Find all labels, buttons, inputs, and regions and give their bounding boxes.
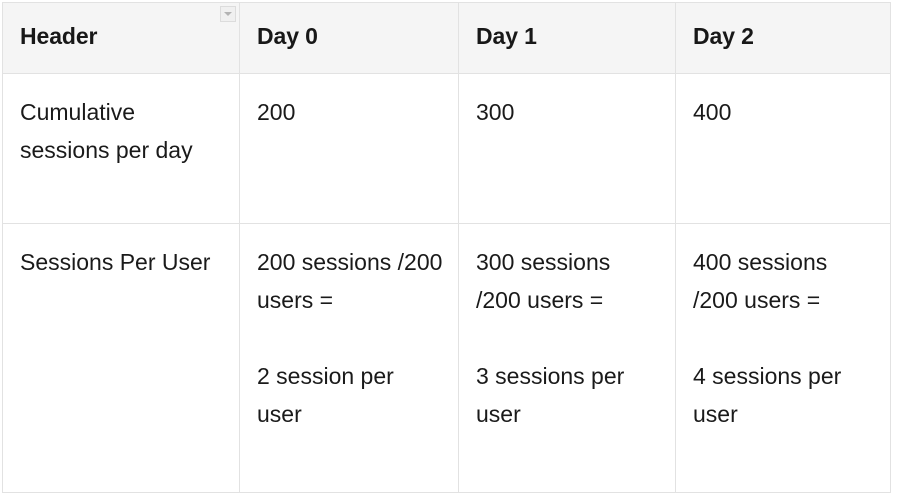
column-header-label-day2: Day 2: [676, 3, 890, 51]
column-header-label-day0: Day 0: [240, 3, 458, 51]
table-row: Cumulative sessions per day 200 300 400: [3, 74, 891, 224]
cell-value-cumulative-day1: 300: [459, 74, 675, 131]
row-label-sessions-per-user: Sessions Per User: [3, 224, 239, 281]
column-header-day2[interactable]: Day 2: [676, 3, 891, 74]
cell-line-result-spu-day1: 3 sessions per user: [476, 357, 661, 433]
table-header-row: Header Day 0 Day 1 Day 2: [3, 3, 891, 74]
column-header-day1[interactable]: Day 1: [459, 3, 676, 74]
data-cell-cumulative-day0: 200: [240, 74, 459, 224]
sessions-data-table: Header Day 0 Day 1 Day 2 Cum: [2, 2, 891, 493]
data-cell-spu-day0: 200 sessions /200 users = 2 session per …: [240, 224, 459, 493]
data-cell-cumulative-day1: 300: [459, 74, 676, 224]
table-row: Sessions Per User 200 sessions /200 user…: [3, 224, 891, 493]
cell-value-spu-day2: 400 sessions /200 users = 4 sessions per…: [676, 224, 890, 433]
cell-line-calc-spu-day1: 300 sessions /200 users =: [476, 243, 661, 319]
cell-value-cumulative-day0: 200: [240, 74, 458, 131]
data-cell-spu-day1: 300 sessions /200 users = 3 sessions per…: [459, 224, 676, 493]
cell-value-spu-day0: 200 sessions /200 users = 2 session per …: [240, 224, 458, 433]
column-header-label-header: Header: [3, 3, 239, 51]
table-body: Cumulative sessions per day 200 300 400 …: [3, 74, 891, 493]
cell-line-result-spu-day0: 2 session per user: [257, 357, 444, 433]
column-filter-dropdown[interactable]: [220, 6, 236, 22]
cell-line-calc-spu-day2: 400 sessions /200 users =: [693, 243, 876, 319]
row-label-cell-sessions-per-user: Sessions Per User: [3, 224, 240, 493]
cell-value-cumulative-day2: 400: [676, 74, 890, 131]
row-label-cell-cumulative: Cumulative sessions per day: [3, 74, 240, 224]
data-cell-cumulative-day2: 400: [676, 74, 891, 224]
column-header-header[interactable]: Header: [3, 3, 240, 74]
data-cell-spu-day2: 400 sessions /200 users = 4 sessions per…: [676, 224, 891, 493]
column-header-label-day1: Day 1: [459, 3, 675, 51]
table-container: Header Day 0 Day 1 Day 2 Cum: [2, 2, 890, 493]
column-header-day0[interactable]: Day 0: [240, 3, 459, 74]
chevron-down-icon: [224, 12, 232, 16]
cell-line-calc-spu-day0: 200 sessions /200 users =: [257, 243, 444, 319]
table-header: Header Day 0 Day 1 Day 2: [3, 3, 891, 74]
cell-value-spu-day1: 300 sessions /200 users = 3 sessions per…: [459, 224, 675, 433]
cell-line-result-spu-day2: 4 sessions per user: [693, 357, 876, 433]
row-label-cumulative: Cumulative sessions per day: [3, 74, 239, 169]
